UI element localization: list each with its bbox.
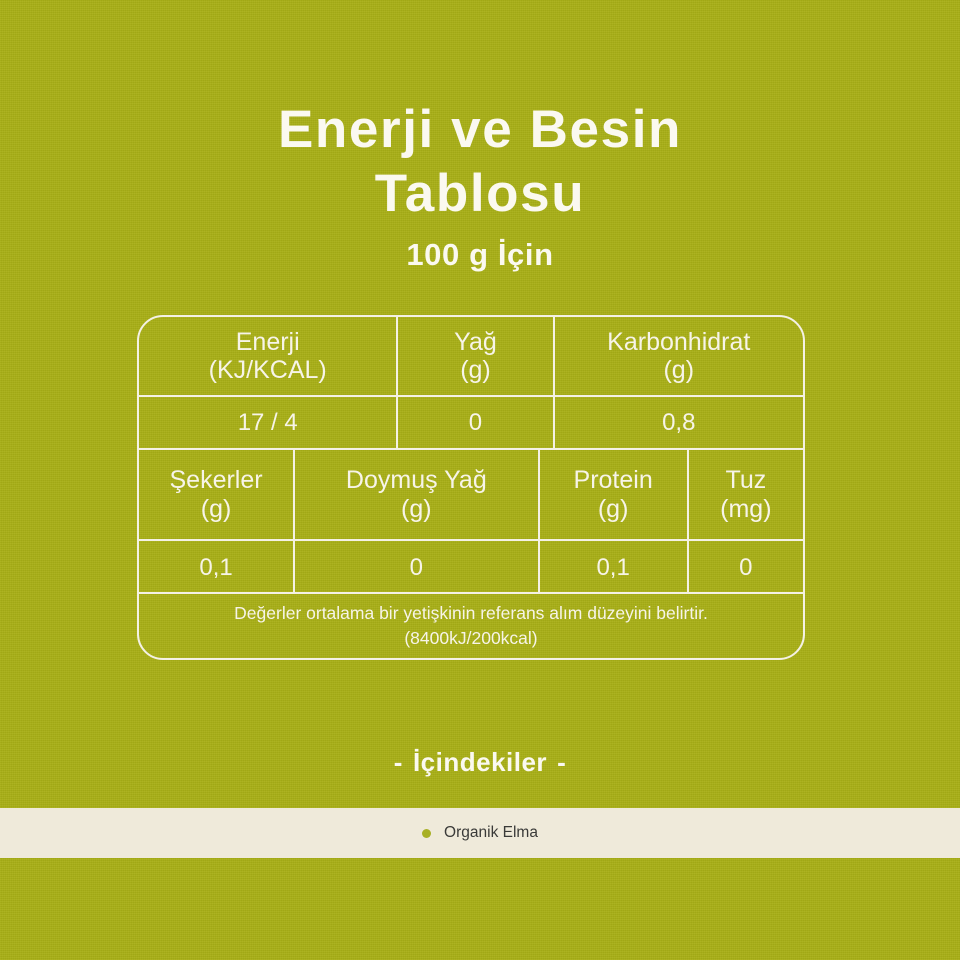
table-value-cell-carbohydrate: 0,8 bbox=[553, 397, 804, 448]
table-footnote: Değerler ortalama bir yetişkinin referan… bbox=[139, 592, 803, 658]
page-title-line-2: Tablosu bbox=[0, 162, 960, 226]
table-value-cell-salt: 0 bbox=[687, 541, 803, 594]
header-unit: (g) bbox=[401, 495, 432, 524]
ingredients-heading: -İçindekiler- bbox=[0, 747, 960, 778]
label-heading: Enerji ve Besin Tablosu 100 g İçin bbox=[0, 98, 960, 273]
serving-subtitle: 100 g İçin bbox=[0, 237, 960, 273]
nutrition-section-primary: Enerji (KJ/KCAL) Yağ (g) Karbonhidrat (g… bbox=[139, 317, 803, 448]
header-name: Tuz bbox=[725, 466, 766, 495]
header-name: Yağ bbox=[454, 328, 497, 357]
header-unit: (g) bbox=[460, 356, 491, 385]
ingredients-heading-label: İçindekiler bbox=[413, 747, 547, 777]
table-header-row: Şekerler (g) Doymuş Yağ (g) Protein (g) … bbox=[139, 450, 803, 539]
table-header-cell-fat: Yağ (g) bbox=[396, 317, 552, 395]
table-header-cell-protein: Protein (g) bbox=[538, 450, 687, 539]
header-name: Şekerler bbox=[169, 466, 262, 495]
header-unit: (g) bbox=[663, 356, 694, 385]
header-name: Enerji bbox=[236, 328, 300, 357]
dash-right: - bbox=[547, 747, 576, 778]
header-name: Karbonhidrat bbox=[607, 328, 750, 357]
table-value-row: 0,1 0 0,1 0 bbox=[139, 539, 803, 594]
page-title-line-1: Enerji ve Besin bbox=[0, 98, 960, 162]
header-unit: (g) bbox=[598, 495, 629, 524]
nutrition-section-secondary: Şekerler (g) Doymuş Yağ (g) Protein (g) … bbox=[139, 448, 803, 592]
header-name: Doymuş Yağ bbox=[346, 466, 487, 495]
header-unit: (mg) bbox=[720, 495, 771, 524]
table-value-row: 17 / 4 0 0,8 bbox=[139, 395, 803, 448]
table-header-cell-saturated-fat: Doymuş Yağ (g) bbox=[293, 450, 538, 539]
table-header-cell-salt: Tuz (mg) bbox=[687, 450, 803, 539]
nutrition-table: Enerji (KJ/KCAL) Yağ (g) Karbonhidrat (g… bbox=[137, 315, 805, 660]
footnote-line-2: (8400kJ/200kcal) bbox=[404, 626, 537, 651]
header-name: Protein bbox=[574, 466, 653, 495]
table-value-cell-sugars: 0,1 bbox=[139, 541, 293, 594]
table-header-cell-energy: Enerji (KJ/KCAL) bbox=[139, 317, 396, 395]
bullet-icon bbox=[422, 829, 431, 838]
nutrition-label-card: Enerji ve Besin Tablosu 100 g İçin Enerj… bbox=[0, 0, 960, 960]
header-unit: (KJ/KCAL) bbox=[209, 356, 327, 385]
table-value-cell-protein: 0,1 bbox=[538, 541, 687, 594]
ingredients-strip: Organik Elma bbox=[0, 808, 960, 858]
table-header-cell-carbohydrate: Karbonhidrat (g) bbox=[553, 317, 804, 395]
table-header-cell-sugars: Şekerler (g) bbox=[139, 450, 293, 539]
table-value-cell-energy: 17 / 4 bbox=[139, 397, 396, 448]
list-item: Organik Elma bbox=[422, 824, 538, 842]
table-value-cell-saturated-fat: 0 bbox=[293, 541, 538, 594]
footnote-line-1: Değerler ortalama bir yetişkinin referan… bbox=[234, 601, 708, 626]
table-header-row: Enerji (KJ/KCAL) Yağ (g) Karbonhidrat (g… bbox=[139, 317, 803, 395]
header-unit: (g) bbox=[201, 495, 232, 524]
dash-left: - bbox=[384, 747, 413, 778]
ingredient-label: Organik Elma bbox=[444, 824, 538, 842]
table-value-cell-fat: 0 bbox=[396, 397, 552, 448]
